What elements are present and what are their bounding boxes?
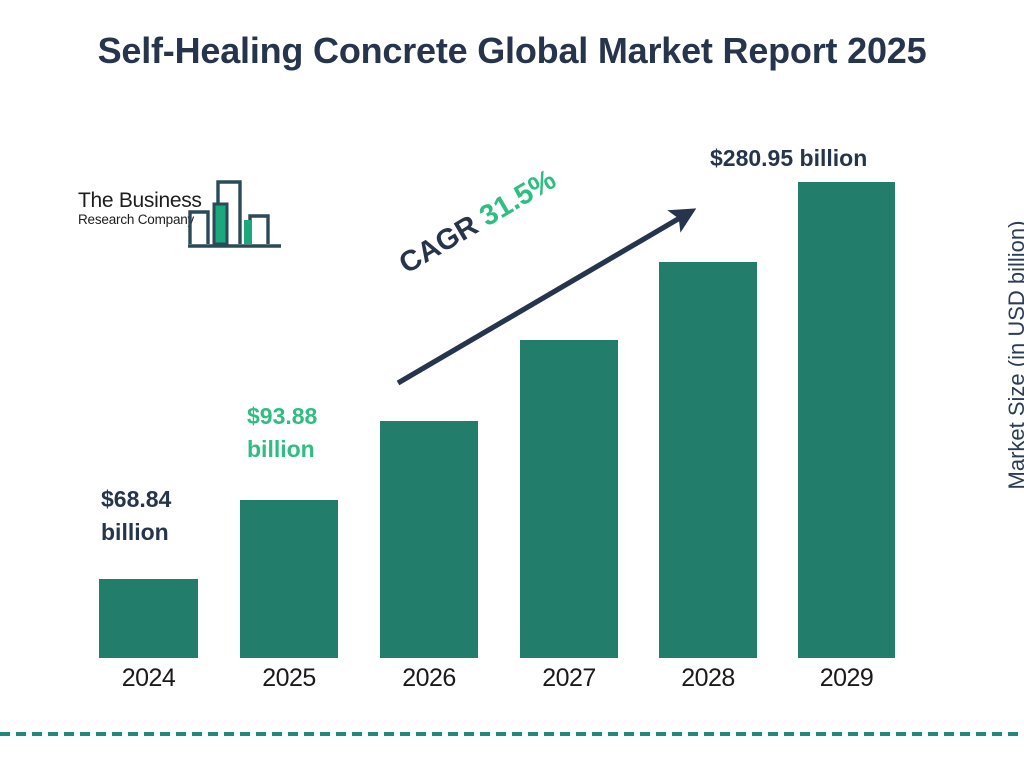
x-tick-2026: 2026: [380, 664, 478, 693]
trend-arrow-icon: [380, 185, 720, 400]
bar-value-label-2025: $93.88 billion: [247, 400, 377, 465]
bar-2025[interactable]: [240, 500, 338, 658]
x-tick-2027: 2027: [520, 664, 618, 693]
y-axis-title: Market Size (in USD billion): [1004, 195, 1024, 515]
bar-chart-plot-area: $68.84 billion $93.88 billion $280.95 bi…: [0, 0, 1024, 768]
x-tick-2024: 2024: [99, 664, 198, 693]
bar-value-label-2024: $68.84 billion: [101, 483, 231, 548]
bar-2024[interactable]: [99, 579, 198, 658]
bar-2029[interactable]: [798, 182, 895, 658]
x-tick-2025: 2025: [240, 664, 338, 693]
bar-value-label-2029: $280.95 billion: [710, 142, 970, 175]
bar-2026[interactable]: [380, 421, 478, 658]
chart-page: Self-Healing Concrete Global Market Repo…: [0, 0, 1024, 768]
x-tick-2029: 2029: [798, 664, 895, 693]
footer-divider: [0, 732, 1024, 736]
x-tick-2028: 2028: [659, 664, 757, 693]
